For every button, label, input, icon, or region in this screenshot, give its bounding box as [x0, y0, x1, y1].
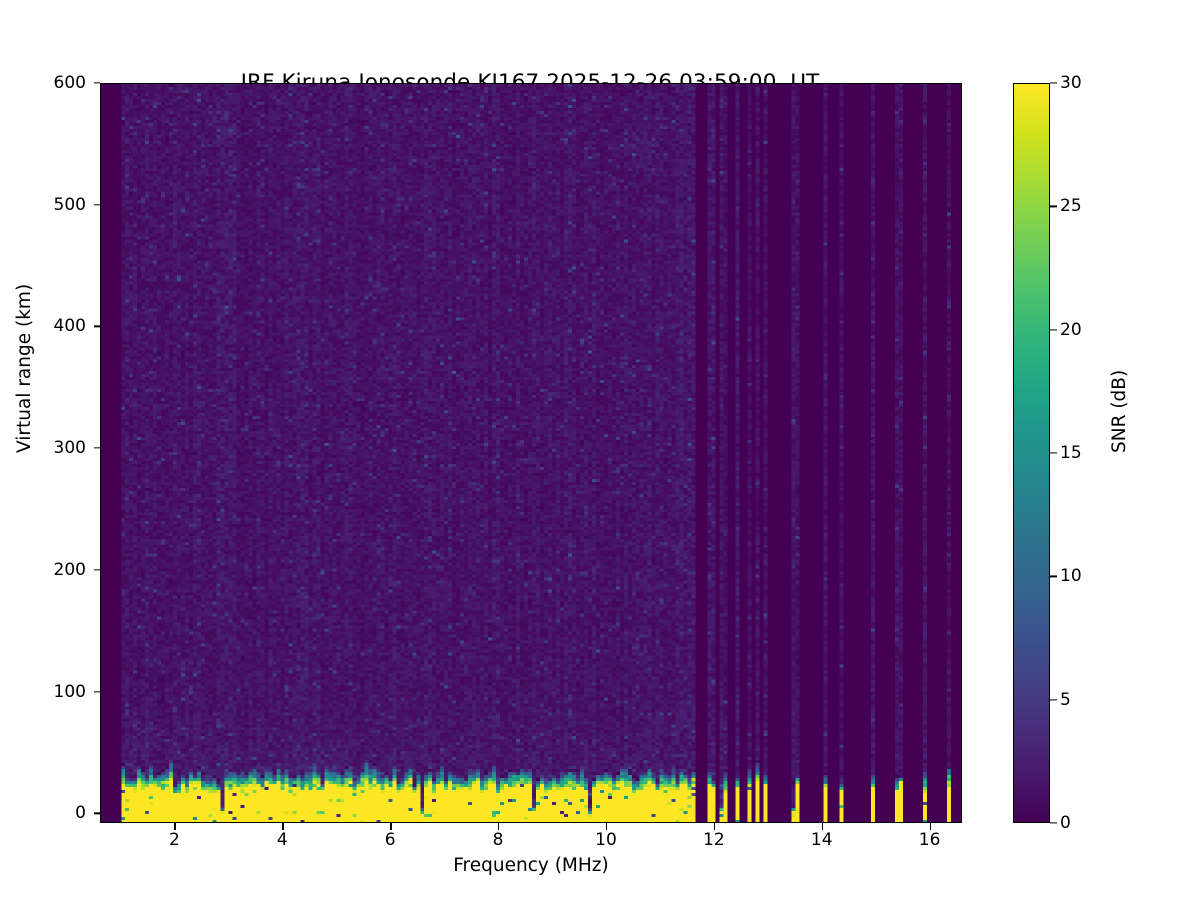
- y-tick-label-0: 0: [8, 803, 86, 823]
- y-tick-label-400: 400: [8, 316, 86, 336]
- x-tick-mark-14: [822, 823, 823, 830]
- y-tick-label-600: 600: [8, 73, 86, 93]
- x-tick-label-8: 8: [468, 830, 528, 850]
- x-tick-mark-16: [930, 823, 931, 830]
- y-tick-mark-400: [94, 326, 101, 327]
- x-tick-label-4: 4: [252, 830, 312, 850]
- y-tick-label-200: 200: [8, 560, 86, 580]
- x-tick-mark-2: [174, 823, 175, 830]
- colorbar-tick-mark-25: [1050, 206, 1057, 207]
- y-tick-label-100: 100: [8, 682, 86, 702]
- x-tick-label-14: 14: [792, 830, 852, 850]
- colorbar-tick-label-15: 15: [1060, 443, 1082, 463]
- y-tick-mark-600: [94, 82, 101, 83]
- ionogram-plot-area[interactable]: [100, 83, 962, 823]
- colorbar-tick-label-5: 5: [1060, 690, 1071, 710]
- colorbar-tick-label-30: 30: [1060, 73, 1082, 93]
- x-axis-label: Frequency (MHz): [100, 855, 962, 876]
- x-tick-mark-4: [282, 823, 283, 830]
- colorbar-tick-mark-15: [1050, 452, 1057, 453]
- x-tick-mark-10: [606, 823, 607, 830]
- x-tick-label-16: 16: [900, 830, 960, 850]
- x-tick-mark-8: [498, 823, 499, 830]
- colorbar-tick-label-25: 25: [1060, 196, 1082, 216]
- colorbar-tick-mark-30: [1050, 82, 1057, 83]
- colorbar-tick-mark-10: [1050, 576, 1057, 577]
- y-axis-label: Virtual range (km): [14, 284, 35, 453]
- colorbar-tick-mark-5: [1050, 699, 1057, 700]
- colorbar[interactable]: [1013, 83, 1050, 823]
- y-tick-mark-200: [94, 569, 101, 570]
- colorbar-gradient: [1014, 84, 1049, 822]
- x-tick-label-12: 12: [684, 830, 744, 850]
- x-tick-label-6: 6: [360, 830, 420, 850]
- colorbar-tick-mark-20: [1050, 329, 1057, 330]
- x-tick-label-10: 10: [576, 830, 636, 850]
- y-tick-mark-0: [94, 813, 101, 814]
- colorbar-tick-mark-0: [1050, 822, 1057, 823]
- ionogram-heatmap-canvas: [101, 84, 961, 822]
- y-tick-mark-100: [94, 691, 101, 692]
- ionogram-figure: IRF Kiruna Ionosonde KI167 2025-12-26 03…: [0, 0, 1200, 900]
- colorbar-tick-label-10: 10: [1060, 566, 1082, 586]
- x-tick-mark-6: [390, 823, 391, 830]
- colorbar-tick-label-0: 0: [1060, 813, 1071, 833]
- y-tick-label-300: 300: [8, 438, 86, 458]
- y-tick-mark-500: [94, 204, 101, 205]
- x-tick-label-2: 2: [144, 830, 204, 850]
- x-tick-mark-12: [714, 823, 715, 830]
- y-tick-mark-300: [94, 447, 101, 448]
- colorbar-label: SNR (dB): [1109, 370, 1130, 453]
- y-tick-label-500: 500: [8, 195, 86, 215]
- colorbar-tick-label-20: 20: [1060, 320, 1082, 340]
